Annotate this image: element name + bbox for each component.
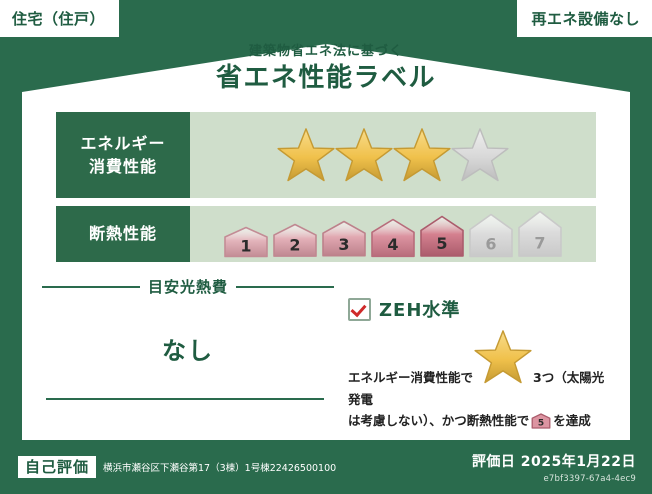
zeh-desc-line2-a: は考慮しない）、かつ断熱性能で — [348, 413, 529, 428]
svg-text:2: 2 — [289, 236, 300, 255]
insulation-step-5: 5 — [419, 215, 465, 257]
row-energy-label: エネルギー 消費性能 — [56, 112, 190, 198]
house-scale: 1234567 — [223, 210, 563, 258]
zeh-desc-line2-b: を達成 — [553, 413, 591, 428]
row-insulation-label-text: 断熱性能 — [89, 222, 157, 245]
insulation-step-4: 4 — [370, 218, 416, 258]
row-energy-label-line1: エネルギー — [80, 132, 165, 155]
property-address: 横浜市瀬谷区下瀬谷第17（3棟）1号棟22426500100 — [103, 460, 336, 474]
rule-left — [42, 286, 140, 288]
svg-text:5: 5 — [436, 234, 447, 253]
energy-performance-label: 住宅（住戸） 再エネ設備なし 建築物省エネ法に基づく 省エネ性能ラベル エネルギ… — [0, 0, 652, 494]
utility-cost-section: 目安光熱費 なし — [42, 274, 334, 414]
svg-text:5: 5 — [538, 419, 544, 429]
star-rating — [277, 127, 509, 183]
row-insulation-body: 1234567 — [190, 206, 596, 262]
insulation-step-7: 7 — [517, 210, 563, 258]
zeh-title: ZEH水準 — [379, 296, 460, 322]
insulation-step-2: 2 — [272, 223, 318, 258]
evaluation-id: e7bf3397-67a4-4ec9 — [472, 474, 636, 484]
zeh-header: ZEH水準 — [348, 296, 610, 322]
footer-left: 自己評価 横浜市瀬谷区下瀬谷第17（3棟）1号棟22426500100 — [0, 456, 472, 479]
star-2 — [335, 127, 393, 183]
row-energy-performance: エネルギー 消費性能 — [56, 112, 596, 198]
inline-star-icon — [474, 329, 532, 385]
row-insulation-performance: 断熱性能 1234567 — [56, 206, 596, 262]
zeh-section: ZEH水準 エネルギー消費性能で3つ（太陽光発電 は考慮しない）、かつ断熱性能で… — [334, 274, 610, 414]
utility-cost-bottom-rule — [46, 398, 324, 400]
zeh-description: エネルギー消費性能で3つ（太陽光発電 は考慮しない）、かつ断熱性能で5を達成 — [348, 329, 610, 436]
inline-house-icon: 5 — [531, 413, 551, 436]
svg-text:1: 1 — [240, 236, 251, 255]
row-energy-label-line2: 消費性能 — [89, 155, 157, 178]
utility-cost-title: 目安光熱費 — [148, 276, 228, 297]
row-energy-body — [190, 112, 596, 198]
self-evaluation-badge: 自己評価 — [18, 456, 96, 479]
zeh-desc-line1-a: エネルギー消費性能で — [348, 370, 473, 385]
svg-text:3: 3 — [338, 235, 349, 254]
footer-right: 評価日 2025年1月22日 e7bf3397-67a4-4ec9 — [472, 451, 652, 484]
utility-cost-value: なし — [42, 331, 334, 366]
badge-renewable-equipment: 再エネ設備なし — [517, 0, 652, 37]
svg-text:7: 7 — [534, 233, 545, 252]
footer-bar: 自己評価 横浜市瀬谷区下瀬谷第17（3棟）1号棟22426500100 評価日 … — [0, 440, 652, 494]
evaluation-date: 評価日 2025年1月22日 — [472, 451, 636, 471]
zeh-checkbox-icon — [348, 298, 371, 321]
rule-right — [236, 286, 334, 288]
insulation-step-6: 6 — [468, 213, 514, 258]
row-insulation-label: 断熱性能 — [56, 206, 190, 262]
rating-rows: エネルギー 消費性能 断熱性能 1234567 — [56, 112, 596, 270]
badge-building-type: 住宅（住戸） — [0, 0, 119, 37]
insulation-step-3: 3 — [321, 220, 367, 257]
svg-text:6: 6 — [485, 234, 496, 253]
svg-text:4: 4 — [387, 235, 398, 254]
star-3 — [393, 127, 451, 183]
insulation-step-1: 1 — [223, 226, 269, 258]
lower-section: 目安光熱費 なし ZEH水準 エネルギー消費性能で3つ（太陽光発電 は考慮しない… — [42, 274, 610, 414]
utility-cost-header: 目安光熱費 — [42, 276, 334, 297]
star-1 — [277, 127, 335, 183]
star-4 — [451, 127, 509, 183]
